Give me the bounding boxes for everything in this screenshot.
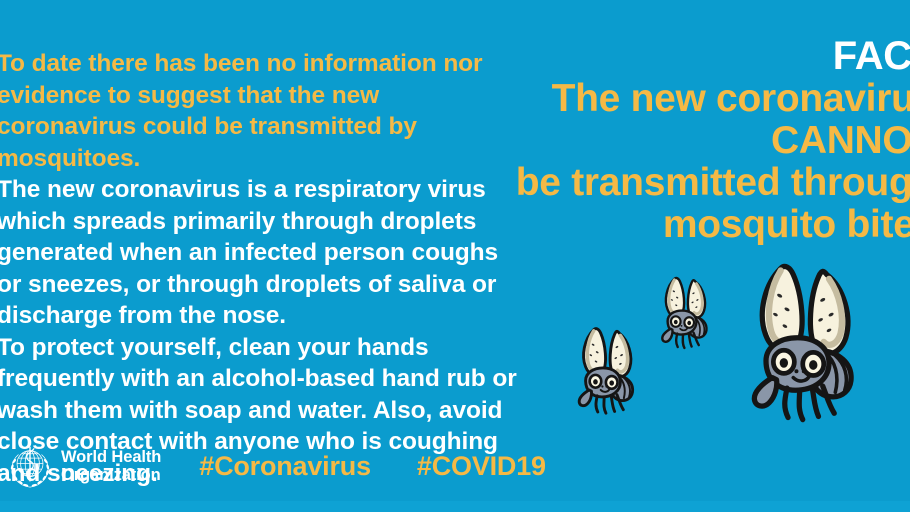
body-paragraph-transmission: The new coronavirus is a respiratory vir… xyxy=(0,174,517,332)
who-wordmark: World Health Organization xyxy=(61,448,161,485)
who-wordmark-line2: Organization xyxy=(61,466,161,485)
mosquito-small xyxy=(662,278,706,348)
hashtag-group: #Coronavirus #COVID19 xyxy=(199,442,546,490)
mosquito-large xyxy=(754,267,851,420)
who-emblem-icon xyxy=(6,442,54,490)
footer: World Health Organization #Coronavirus #… xyxy=(6,438,546,494)
hashtag-coronavirus[interactable]: #Coronavirus xyxy=(199,451,371,482)
hashtag-covid19[interactable]: #COVID19 xyxy=(417,451,546,482)
who-logo: World Health Organization xyxy=(6,442,161,490)
body-paragraph-lede: To date there has been no information no… xyxy=(0,48,517,174)
body-copy: To date there has been no information no… xyxy=(0,48,517,489)
mosquito-illustration xyxy=(560,255,910,470)
who-fact-poster: FACT The new coronavirus CANNOT be trans… xyxy=(0,0,910,512)
who-wordmark-line1: World Health xyxy=(61,448,161,467)
bottom-edge-band xyxy=(0,501,910,512)
mosquito-medium xyxy=(579,329,632,414)
